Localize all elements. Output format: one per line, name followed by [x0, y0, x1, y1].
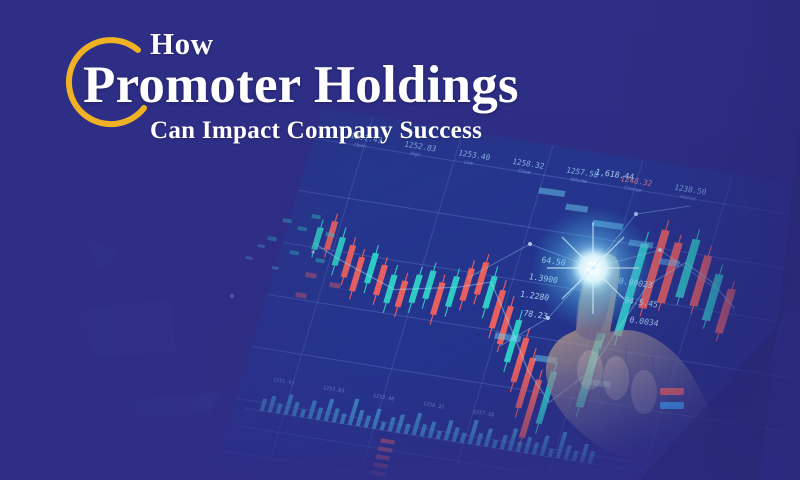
headline-subtitle: Can Impact Company Success: [150, 118, 482, 143]
page-title: Promoter Holdings: [83, 58, 519, 114]
promoter-holdings-banner: 1251.43 1252.83 1253.40 1258.32 1257.58 …: [0, 0, 800, 480]
fade-right: [600, 0, 800, 480]
headline-block: How Promoter Holdings Can Impact Company…: [58, 22, 618, 162]
headline-eyebrow: How: [150, 28, 214, 59]
